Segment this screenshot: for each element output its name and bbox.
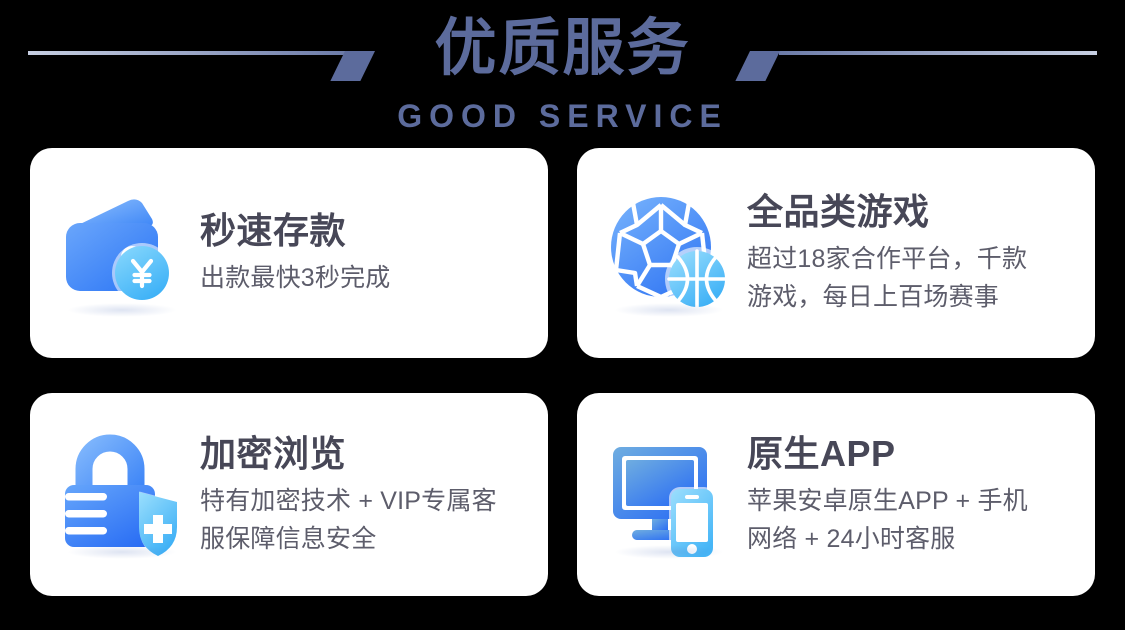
card-description: 苹果安卓原生APP + 手机 网络 + 24小时客服: [747, 482, 1081, 558]
icon-shadow: [67, 545, 178, 559]
card-title: 全品类游戏: [747, 190, 1081, 234]
card-description: 超过18家合作平台，千款 游戏，每日上百场赛事: [747, 240, 1081, 316]
card-description-line: 网络 + 24小时客服: [747, 520, 1081, 558]
card-text-block: 原生APP 苹果安卓原生APP + 手机 网络 + 24小时客服: [747, 432, 1081, 558]
feature-card-deposit[interactable]: 秒速存款 出款最快3秒完成: [30, 148, 548, 358]
card-text-block: 加密浏览 特有加密技术 + VIP专属客 服保障信息安全: [200, 432, 534, 558]
feature-card-games[interactable]: 全品类游戏 超过18家合作平台，千款 游戏，每日上百场赛事: [577, 148, 1095, 358]
card-description-line: 特有加密技术 + VIP专属客: [200, 482, 534, 520]
card-description-line: 服保障信息安全: [200, 520, 534, 558]
card-title: 原生APP: [747, 432, 1081, 476]
section-header: 优质服务 GOOD SERVICE: [0, 0, 1125, 148]
card-text-block: 秒速存款 出款最快3秒完成: [200, 209, 534, 297]
page-subtitle: GOOD SERVICE: [0, 98, 1125, 134]
soccer-basketball-icon: [603, 187, 735, 319]
icon-shadow: [67, 303, 178, 317]
feature-card-encryption[interactable]: 加密浏览 特有加密技术 + VIP专属客 服保障信息安全: [30, 393, 548, 596]
card-description-line: 游戏，每日上百场赛事: [747, 278, 1081, 316]
card-description-line: 超过18家合作平台，千款: [747, 240, 1081, 278]
icon-shadow: [614, 303, 725, 317]
feature-card-native-app[interactable]: 原生APP 苹果安卓原生APP + 手机 网络 + 24小时客服: [577, 393, 1095, 596]
lock-shield-icon: [56, 429, 188, 561]
card-description: 出款最快3秒完成: [200, 259, 534, 297]
good-service-panel: 优质服务 GOOD SERVICE: [0, 0, 1125, 630]
page-title: 优质服务: [0, 12, 1125, 86]
card-title: 加密浏览: [200, 432, 534, 476]
monitor-phone-icon: [603, 429, 735, 561]
feature-card-grid: 秒速存款 出款最快3秒完成: [30, 148, 1095, 600]
card-description-line: 出款最快3秒完成: [200, 259, 534, 297]
wallet-icon: [56, 187, 188, 319]
card-description: 特有加密技术 + VIP专属客 服保障信息安全: [200, 482, 534, 558]
card-description-line: 苹果安卓原生APP + 手机: [747, 482, 1081, 520]
card-title: 秒速存款: [200, 209, 534, 253]
card-text-block: 全品类游戏 超过18家合作平台，千款 游戏，每日上百场赛事: [747, 190, 1081, 316]
icon-shadow: [614, 545, 725, 559]
